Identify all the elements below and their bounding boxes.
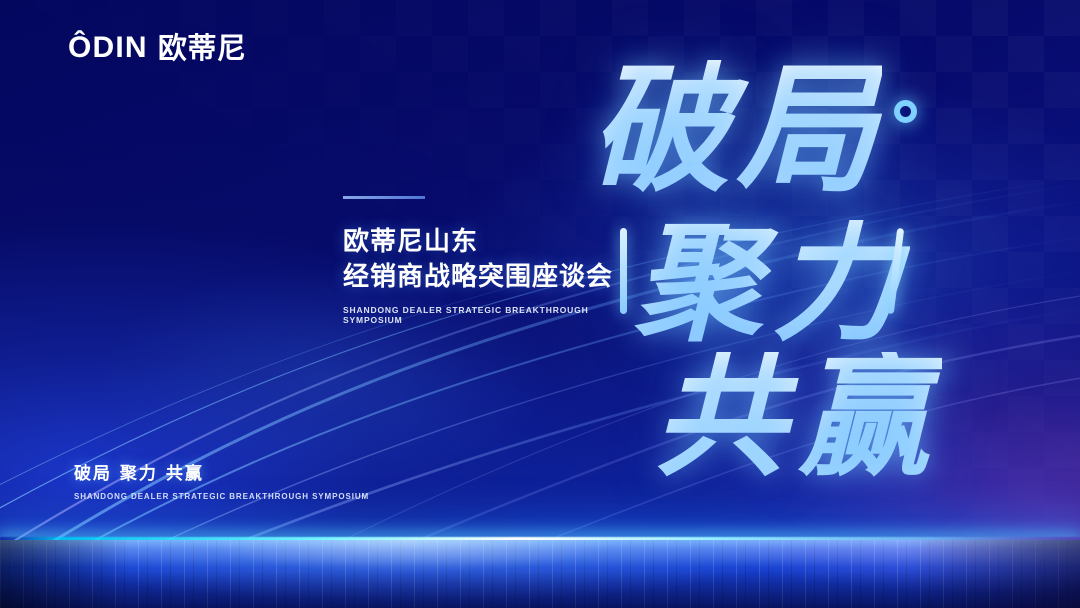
calligraphy-line-2: 聚力 bbox=[634, 220, 910, 348]
brand-logo: ÔDIN 欧蒂尼 bbox=[68, 33, 246, 63]
brand-logo-chinese: 欧蒂尼 bbox=[158, 34, 247, 63]
slogan-bar-left bbox=[620, 228, 627, 314]
reflective-floor bbox=[0, 540, 1080, 608]
event-title-block: 欧蒂尼山东 经销商战略突围座谈会 SHANDONG DEALER STRATEG… bbox=[343, 196, 613, 325]
strapline-chinese: 破局 聚力 共赢 bbox=[74, 466, 369, 483]
strapline-block: 破局 聚力 共赢 SHANDONG DEALER STRATEGIC BREAK… bbox=[74, 466, 369, 501]
title-divider-rule bbox=[343, 196, 425, 199]
event-title-chinese: 欧蒂尼山东 经销商战略突围座谈会 bbox=[343, 225, 613, 294]
degree-circle-icon bbox=[894, 100, 917, 123]
calligraphy-slogan: 破局 聚力 共赢 bbox=[576, 52, 1016, 472]
floor-vignette bbox=[0, 540, 1080, 608]
calligraphy-line-1: 破局 bbox=[590, 60, 882, 200]
event-banner: ÔDIN 欧蒂尼 欧蒂尼山东 经销商战略突围座谈会 SHANDONG DEALE… bbox=[0, 0, 1080, 608]
strapline-english: SHANDONG DEALER STRATEGIC BREAKTHROUGH S… bbox=[74, 492, 369, 501]
brand-logo-latin: ÔDIN bbox=[68, 33, 148, 63]
calligraphy-line-3: 共赢 bbox=[654, 352, 942, 484]
event-title-english: SHANDONG DEALER STRATEGIC BREAKTHROUGH S… bbox=[343, 305, 613, 325]
